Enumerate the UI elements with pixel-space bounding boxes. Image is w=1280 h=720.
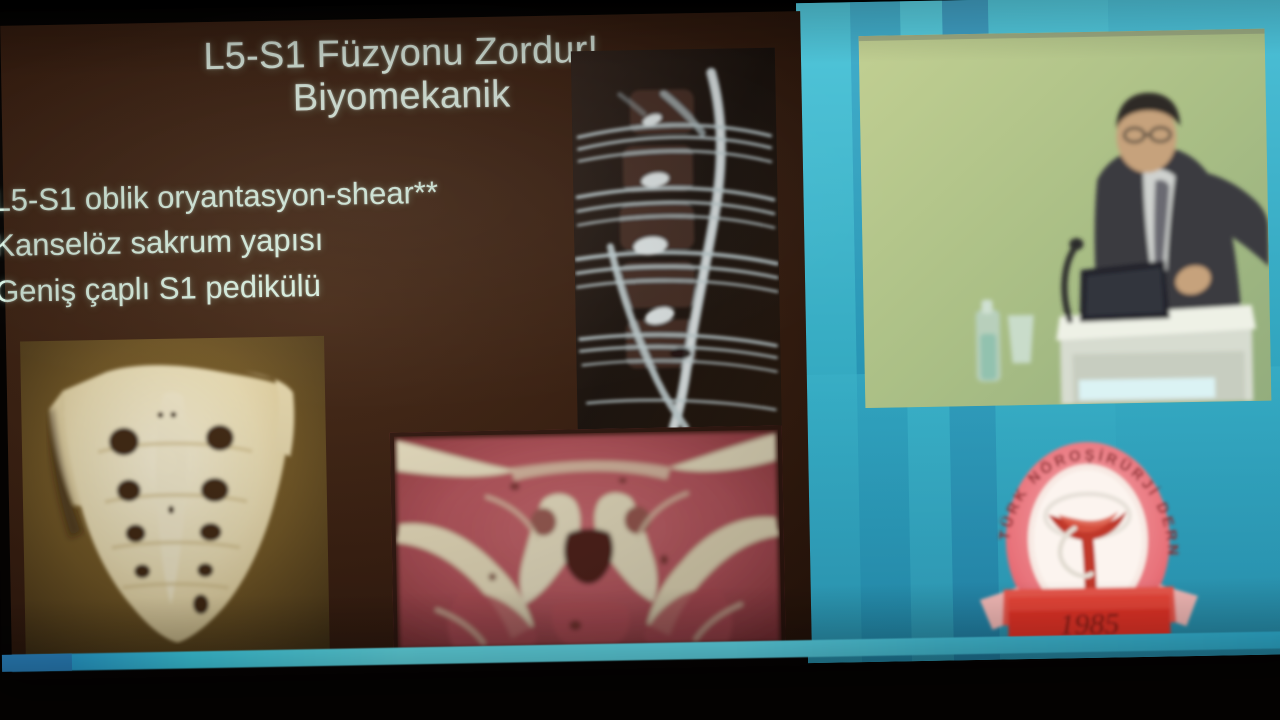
slide-bullet-list: L5-S1 oblik oryantasyon-shear** Kanselöz… <box>0 168 555 314</box>
sagittal-mri-image <box>571 48 782 434</box>
sacrum-bone-specimen-image <box>20 336 330 662</box>
sacrum-bone-drawing <box>44 352 303 647</box>
screenshot-stage: L5-S1 Füzyonu Zordur! Biyomekanik L5-S1 … <box>0 0 1280 720</box>
speaker-camera-feed <box>859 29 1272 408</box>
axial-cryosection-drawing <box>390 426 786 655</box>
axial-cryosection-image <box>390 426 786 655</box>
speaker-scene-drawing <box>859 29 1272 408</box>
slide-bullet-3: Geniş çaplı S1 pedikülü <box>0 258 555 314</box>
turkish-neurosurgical-society-logo: TÜRK NÖROŞİRÜRJİ DERNEĞİ <box>961 426 1215 663</box>
presentation-slide: L5-S1 Füzyonu Zordur! Biyomekanik L5-S1 … <box>0 11 812 666</box>
mri-sagittal-drawing <box>571 48 782 434</box>
projection-screen: L5-S1 Füzyonu Zordur! Biyomekanik L5-S1 … <box>0 0 1280 680</box>
society-logo-drawing: TÜRK NÖROŞİRÜRJİ DERNEĞİ <box>961 426 1215 663</box>
slide-title-line-1: L5-S1 Füzyonu Zordur! <box>203 29 599 78</box>
screen-bottom-light-strip-left <box>2 654 72 672</box>
